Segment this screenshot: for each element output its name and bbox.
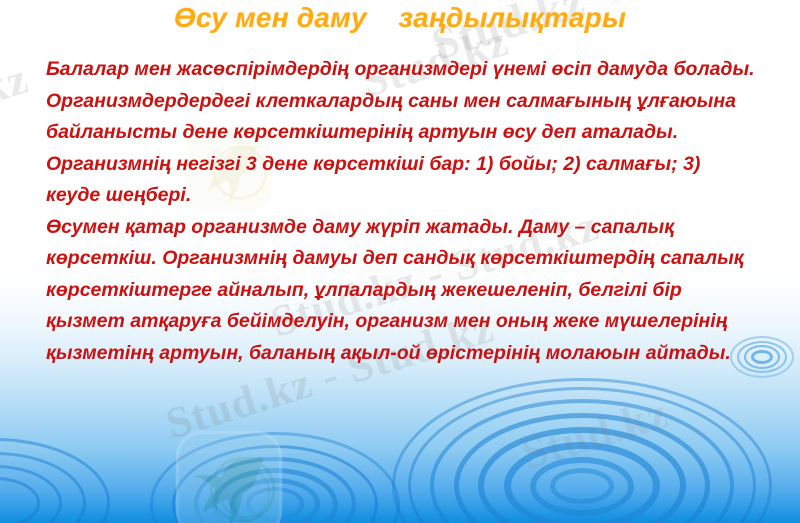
slide-body: Балалар мен жасөспірімдердің организмдер… [46,54,758,369]
ripple-ring [408,387,756,523]
ripple-ring [550,468,614,504]
ripple-ring [194,457,356,523]
slide-title: Өсу мен даму заңдылықтары [0,2,800,34]
ripple-ring [430,399,734,523]
body-paragraph: Өсумен қатар организмде даму жүріп жатад… [46,212,758,370]
body-paragraph: Организмнің негізгі 3 дене көрсеткіші ба… [46,149,758,212]
ripple-medium [150,432,400,523]
ripple-ring [392,378,772,523]
ripple-ring [212,468,338,523]
ripple-ring [530,457,634,516]
ripple-ring [230,478,320,523]
watermark-text: .kz [0,53,34,119]
ripple-large [392,378,772,523]
ripple-ring [0,477,40,523]
ripple-ring [246,487,304,521]
watermark-text: Stud.kz [516,387,674,480]
ripple-ring [172,445,378,523]
ripple-ring [0,452,86,523]
ripple-ring [0,438,110,523]
body-paragraph: Организмдердердегі клеткалардың саны мен… [46,86,758,149]
ripple-ring [478,427,686,523]
presentation-slide: Stud.kz Stud.kz Stud.kz - Stud.kz Stud.k… [0,0,800,523]
ripple-left [0,438,110,523]
ripple-ring [0,465,62,523]
ripple-ring [150,432,400,523]
ripple-ring [454,413,710,523]
body-paragraph: Балалар мен жасөспірімдердің организмдер… [46,54,758,86]
ripple-ring [504,442,660,523]
hummingbird-logo-icon [173,428,285,523]
